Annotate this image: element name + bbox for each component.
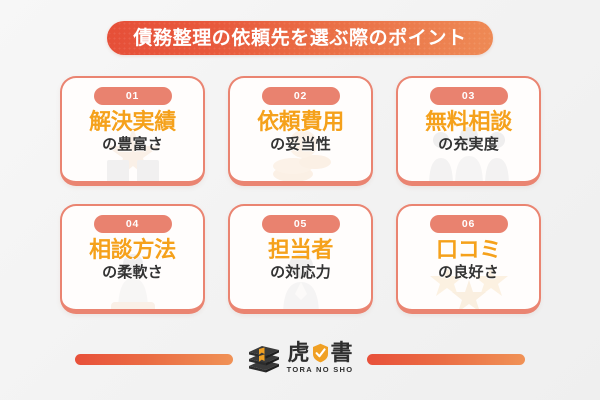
- card-subtitle: の柔軟さ: [102, 265, 163, 282]
- points-card-grid: 01 解決実績 の豊富さ 02 依頼費用 の妥当性 03 無料相談 の充実度: [60, 76, 542, 314]
- card-title: 担当者: [268, 238, 333, 262]
- point-card-04[interactable]: 04 相談方法 の柔軟さ: [60, 204, 205, 314]
- logo-kanji-sho: 書: [331, 342, 353, 364]
- point-card-05[interactable]: 05 担当者 の対応力: [228, 204, 373, 314]
- point-card-01[interactable]: 01 解決実績 の豊富さ: [60, 76, 205, 186]
- point-card-02[interactable]: 02 依頼費用 の妥当性: [228, 76, 373, 186]
- card-subtitle: の対応力: [270, 265, 331, 282]
- footer: 虎 書 TORA NO SHO: [0, 330, 600, 388]
- card-number-badge: 06: [430, 215, 508, 233]
- card-subtitle: の充実度: [438, 137, 499, 154]
- card-number-badge: 01: [94, 87, 172, 105]
- header-banner: 債務整理の依頼先を選ぶ際のポイント: [107, 21, 492, 55]
- card-number-badge: 04: [94, 215, 172, 233]
- page-title: 債務整理の依頼先を選ぶ際のポイント: [133, 29, 466, 48]
- logo-kanji-tora: 虎: [287, 342, 309, 364]
- point-card-06[interactable]: 06 口コミ の良好さ: [396, 204, 541, 314]
- card-title: 口コミ: [436, 238, 501, 262]
- decorative-bar-left: [75, 354, 233, 365]
- logo-roman-text: TORA NO SHO: [287, 366, 354, 374]
- decorative-bar-right: [367, 354, 525, 365]
- header-banner-container: 債務整理の依頼先を選ぶ際のポイント: [0, 21, 600, 55]
- card-title: 無料相談: [425, 110, 512, 134]
- card-number-badge: 03: [430, 87, 508, 105]
- point-card-03[interactable]: 03 無料相談 の充実度: [396, 76, 541, 186]
- card-subtitle: の良好さ: [438, 265, 499, 282]
- card-number-badge: 05: [262, 215, 340, 233]
- card-title: 相談方法: [89, 238, 176, 262]
- logo-text-block: 虎 書 TORA NO SHO: [287, 342, 354, 374]
- shield-check-icon: [312, 343, 329, 363]
- card-title: 依頼費用: [257, 110, 344, 134]
- card-subtitle: の豊富さ: [102, 137, 163, 154]
- logo-wordmark: 虎 書: [287, 342, 352, 364]
- card-number-badge: 02: [262, 87, 340, 105]
- card-subtitle: の妥当性: [270, 137, 331, 154]
- card-title: 解決実績: [89, 110, 176, 134]
- brand-logo[interactable]: 虎 書 TORA NO SHO: [247, 342, 354, 376]
- stacked-books-icon: [247, 343, 281, 373]
